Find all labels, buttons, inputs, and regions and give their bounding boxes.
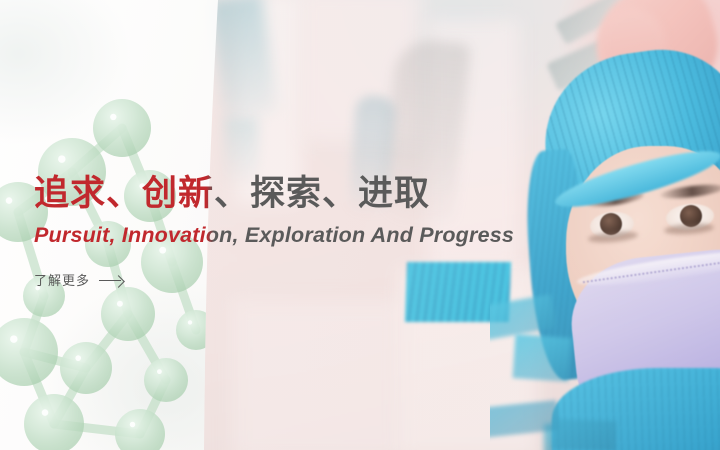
- fabric-fragment: [513, 334, 572, 382]
- fabric-fragment: [551, 419, 616, 450]
- hero-banner: 追求、创新、探索、进取 Pursuit, Innovation, Explora…: [0, 0, 720, 450]
- hero-copy: 追求、创新、探索、进取 Pursuit, Innovation, Explora…: [34, 172, 594, 290]
- fabric-fragment: [490, 400, 559, 438]
- page-title: 追求、创新、探索、进取: [34, 172, 594, 216]
- page-subtitle: Pursuit, Innovation, Exploration And Pro…: [34, 222, 594, 248]
- arrow-right-icon: [99, 276, 127, 285]
- learn-more-link[interactable]: 了解更多: [34, 274, 127, 287]
- lab-shelf-blur: [232, 300, 402, 450]
- learn-more-label: 了解更多: [34, 274, 90, 287]
